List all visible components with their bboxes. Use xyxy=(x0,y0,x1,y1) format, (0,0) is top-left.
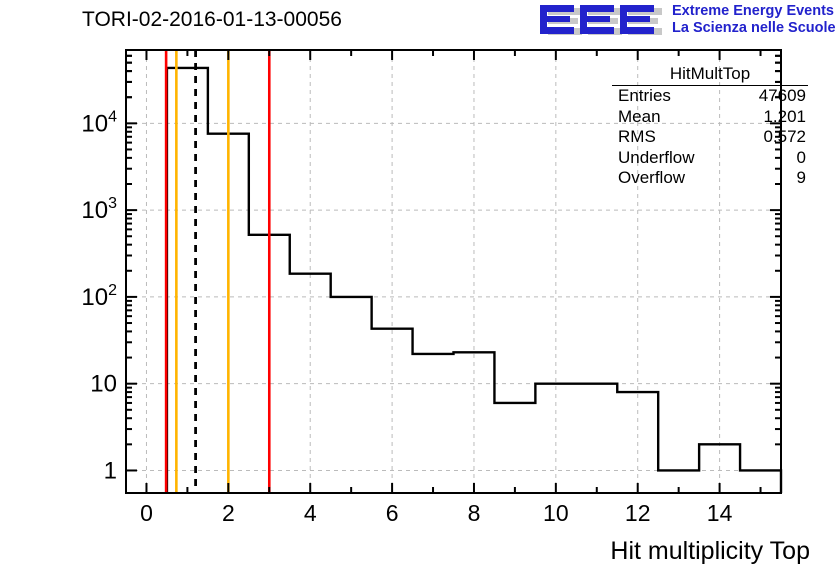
stats-box: HitMultTop Entries47609Mean1.201RMS0.572… xyxy=(612,64,808,189)
stats-title: HitMultTop xyxy=(612,64,808,86)
x-axis-tick-label: 2 xyxy=(222,500,235,526)
x-axis-tick-label: 0 xyxy=(140,500,153,526)
stats-row-value: 0.572 xyxy=(763,127,806,148)
stats-row-value: 0 xyxy=(797,148,806,169)
y-axis-tick-label: 104 xyxy=(81,108,117,137)
stats-row: Entries47609 xyxy=(612,86,808,107)
x-axis-title: Hit multiplicity Top xyxy=(610,537,810,566)
y-axis-tick-label: 103 xyxy=(81,195,117,224)
stats-row: RMS0.572 xyxy=(612,127,808,148)
stats-row-label: Overflow xyxy=(618,168,685,189)
stats-row-label: RMS xyxy=(618,127,656,148)
x-axis-tick-label: 6 xyxy=(386,500,399,526)
stats-row-label: Underflow xyxy=(618,148,695,169)
stats-row-label: Entries xyxy=(618,86,671,107)
stats-row: Underflow0 xyxy=(612,148,808,169)
y-axis-tick-label: 1 xyxy=(104,457,117,484)
stats-rows: Entries47609Mean1.201RMS0.572Underflow0O… xyxy=(612,86,808,189)
stats-row-value: 9 xyxy=(797,168,806,189)
x-axis-tick-label: 8 xyxy=(468,500,481,526)
x-axis-tick-label: 10 xyxy=(543,500,569,526)
x-axis-tick-label: 14 xyxy=(707,500,733,526)
stats-row-label: Mean xyxy=(618,107,661,128)
y-axis-tick-label: 102 xyxy=(81,282,117,311)
y-axis-tick-label: 10 xyxy=(90,371,117,398)
stats-row: Mean1.201 xyxy=(612,107,808,128)
histogram-page: TORI-02-2016-01-13-00056 xyxy=(0,0,836,572)
stats-row-value: 47609 xyxy=(759,86,806,107)
stats-row: Overflow9 xyxy=(612,168,808,189)
x-axis-tick-label: 12 xyxy=(625,500,651,526)
x-axis-tick-label: 4 xyxy=(304,500,317,526)
stats-row-value: 1.201 xyxy=(763,107,806,128)
